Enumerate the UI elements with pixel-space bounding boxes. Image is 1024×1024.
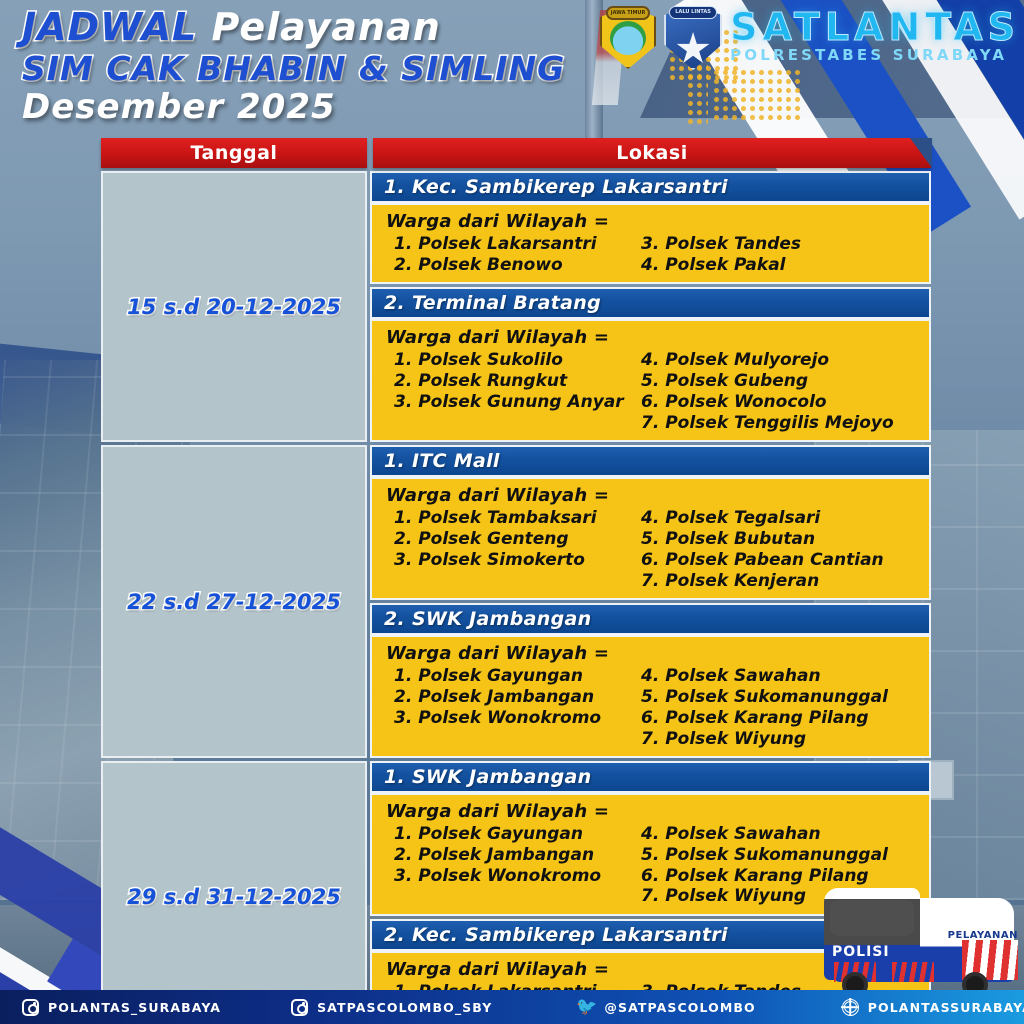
polsek-item: 2. Polsek Jambangan bbox=[394, 845, 641, 866]
polsek-item: 5. Polsek Sukomanunggal bbox=[641, 687, 915, 708]
location-block: 2. Terminal BratangWarga dari Wilayah =1… bbox=[370, 287, 931, 442]
location-title: 1. SWK Jambangan bbox=[370, 761, 931, 793]
warga-subtitle: Warga dari Wilayah = bbox=[386, 643, 915, 664]
polsek-item: 1. Polsek Sukolilo bbox=[394, 350, 641, 371]
polda-jatim-logo-icon: JAWA TIMUR bbox=[600, 7, 656, 69]
polsek-item: 4. Polsek Sawahan bbox=[641, 824, 915, 845]
title-line-1: JADWAL Pelayanan bbox=[22, 8, 662, 48]
van-windshield bbox=[830, 900, 914, 936]
van-polisi-label: POLISI bbox=[832, 944, 890, 960]
warga-subtitle: Warga dari Wilayah = bbox=[386, 801, 915, 822]
location-block: 2. SWK JambanganWarga dari Wilayah =1. P… bbox=[370, 603, 931, 758]
polsek-item: 6. Polsek Karang Pilang bbox=[641, 708, 915, 729]
date-cell: 22 s.d 27-12-2025 bbox=[101, 445, 367, 758]
footer-label: POLANTASSURABAYA.ID bbox=[868, 1000, 1024, 1015]
polsek-item: 6. Polsek Pabean Cantian bbox=[641, 550, 915, 571]
title-jadwal: JADWAL bbox=[22, 5, 197, 49]
title-line-2: SIM CAK BHABIN & SIMLING bbox=[22, 52, 662, 86]
lantas-logo-banner: LALU LINTAS bbox=[669, 6, 717, 19]
polsek-item: 2. Polsek Benowo bbox=[394, 255, 641, 276]
polda-logo-banner: JAWA TIMUR bbox=[606, 6, 650, 20]
polsek-item: 3. Polsek Wonokromo bbox=[394, 708, 641, 729]
polsek-item: 4. Polsek Pakal bbox=[641, 255, 915, 276]
polsek-item: 2. Polsek Genteng bbox=[394, 529, 641, 550]
column-header-tanggal: Tanggal bbox=[101, 138, 367, 168]
location-body: Warga dari Wilayah =1. Polsek Gayungan2.… bbox=[370, 635, 931, 758]
polsek-item: 3. Polsek Wonokromo bbox=[394, 866, 641, 887]
title-pelayanan: Pelayanan bbox=[212, 5, 441, 49]
polsek-item: 3. Polsek Gunung Anyar bbox=[394, 392, 641, 413]
social-footer-bar: POLANTAS_SURABAYASATPASCOLOMBO_SBY🐦@SATP… bbox=[0, 990, 1024, 1024]
table-row: 22 s.d 27-12-20251. ITC MallWarga dari W… bbox=[101, 445, 931, 758]
instagram-icon bbox=[22, 999, 39, 1016]
globe-icon bbox=[842, 999, 859, 1016]
schedule-table: Tanggal Lokasi 15 s.d 20-12-20251. Kec. … bbox=[101, 138, 931, 1024]
polsek-column: 4. Polsek Sawahan5. Polsek Sukomanunggal… bbox=[641, 666, 915, 749]
warga-subtitle: Warga dari Wilayah = bbox=[386, 211, 915, 232]
polsek-columns: 1. Polsek Lakarsantri2. Polsek Benowo3. … bbox=[386, 234, 915, 275]
location-title: 1. ITC Mall bbox=[370, 445, 931, 477]
polsek-column: 4. Polsek Tegalsari5. Polsek Bubutan6. P… bbox=[641, 508, 915, 591]
polsek-item: 7. Polsek Tenggilis Mejoyo bbox=[641, 413, 915, 434]
table-row: 29 s.d 31-12-20251. SWK JambanganWarga d… bbox=[101, 761, 931, 1024]
polsek-item: 1. Polsek Gayungan bbox=[394, 666, 641, 687]
table-header-row: Tanggal Lokasi bbox=[101, 138, 931, 168]
polsek-item: 4. Polsek Tegalsari bbox=[641, 508, 915, 529]
date-text: 29 s.d 31-12-2025 bbox=[127, 885, 341, 909]
polsek-column: 1. Polsek Lakarsantri2. Polsek Benowo bbox=[386, 234, 641, 275]
date-text: 15 s.d 20-12-2025 bbox=[127, 295, 341, 319]
location-cell: 1. ITC MallWarga dari Wilayah =1. Polsek… bbox=[370, 445, 931, 758]
footer-item[interactable]: POLANTASSURABAYA.ID bbox=[842, 999, 1024, 1016]
polsek-item: 2. Polsek Rungkut bbox=[394, 371, 641, 392]
location-body: Warga dari Wilayah =1. Polsek Sukolilo2.… bbox=[370, 319, 931, 442]
location-body: Warga dari Wilayah =1. Polsek Tambaksari… bbox=[370, 477, 931, 600]
location-body: Warga dari Wilayah =1. Polsek Lakarsantr… bbox=[370, 203, 931, 284]
warga-subtitle: Warga dari Wilayah = bbox=[386, 327, 915, 348]
polsek-column: 1. Polsek Gayungan2. Polsek Jambangan3. … bbox=[386, 824, 641, 907]
page-title: JADWAL Pelayanan SIM CAK BHABIN & SIMLIN… bbox=[22, 8, 662, 125]
police-van-graphic: PELAYANAN POLISI bbox=[824, 880, 1024, 1000]
polsek-item: 1. Polsek Lakarsantri bbox=[394, 234, 641, 255]
location-cell: 1. Kec. Sambikerep LakarsantriWarga dari… bbox=[370, 171, 931, 442]
polsek-item: 5. Polsek Sukomanunggal bbox=[641, 845, 915, 866]
polsek-item: 5. Polsek Bubutan bbox=[641, 529, 915, 550]
polsek-item: 7. Polsek Wiyung bbox=[641, 729, 915, 750]
polsek-column: 3. Polsek Tandes4. Polsek Pakal bbox=[641, 234, 915, 275]
polsek-item: 3. Polsek Simokerto bbox=[394, 550, 641, 571]
polsek-column: 1. Polsek Sukolilo2. Polsek Rungkut3. Po… bbox=[386, 350, 641, 433]
lalu-lintas-logo-icon: LALU LINTAS bbox=[664, 6, 722, 70]
polsek-column: 1. Polsek Gayungan2. Polsek Jambangan3. … bbox=[386, 666, 641, 749]
title-line-3: Desember 2025 bbox=[22, 90, 662, 125]
table-body: 15 s.d 20-12-20251. Kec. Sambikerep Laka… bbox=[101, 171, 931, 1024]
polsek-columns: 1. Polsek Gayungan2. Polsek Jambangan3. … bbox=[386, 666, 915, 749]
table-row: 15 s.d 20-12-20251. Kec. Sambikerep Laka… bbox=[101, 171, 931, 442]
polsek-item: 7. Polsek Kenjeran bbox=[641, 571, 915, 592]
polsek-item: 4. Polsek Sawahan bbox=[641, 666, 915, 687]
footer-label: @SATPASCOLOMBO bbox=[604, 1000, 755, 1015]
location-title: 2. SWK Jambangan bbox=[370, 603, 931, 635]
polsek-item: 5. Polsek Gubeng bbox=[641, 371, 915, 392]
polsek-column: 1. Polsek Tambaksari2. Polsek Genteng3. … bbox=[386, 508, 641, 591]
instagram-icon bbox=[291, 999, 308, 1016]
date-cell: 29 s.d 31-12-2025 bbox=[101, 761, 367, 1024]
warga-subtitle: Warga dari Wilayah = bbox=[386, 485, 915, 506]
date-text: 22 s.d 27-12-2025 bbox=[127, 590, 341, 614]
polsek-item: 4. Polsek Mulyorejo bbox=[641, 350, 915, 371]
polsek-item: 1. Polsek Gayungan bbox=[394, 824, 641, 845]
footer-item[interactable]: SATPASCOLOMBO_SBY bbox=[291, 999, 492, 1016]
date-cell: 15 s.d 20-12-2025 bbox=[101, 171, 367, 442]
location-title: 2. Terminal Bratang bbox=[370, 287, 931, 319]
polsek-columns: 1. Polsek Sukolilo2. Polsek Rungkut3. Po… bbox=[386, 350, 915, 433]
location-block: 1. Kec. Sambikerep LakarsantriWarga dari… bbox=[370, 171, 931, 284]
polsek-item: 3. Polsek Tandes bbox=[641, 234, 915, 255]
brand-text: SATLANTAS POLRESTABES SURABAYA bbox=[730, 8, 1020, 69]
footer-item[interactable]: 🐦@SATPASCOLOMBO bbox=[576, 999, 755, 1015]
footer-label: POLANTAS_SURABAYA bbox=[48, 1000, 221, 1015]
polsek-item: 2. Polsek Jambangan bbox=[394, 687, 641, 708]
dot-pattern-3 bbox=[712, 68, 802, 124]
van-service-label: PELAYANAN bbox=[948, 930, 1018, 941]
polsek-item: 6. Polsek Wonocolo bbox=[641, 392, 915, 413]
polsek-columns: 1. Polsek Tambaksari2. Polsek Genteng3. … bbox=[386, 508, 915, 591]
location-title: 1. Kec. Sambikerep Lakarsantri bbox=[370, 171, 931, 203]
brand-name: SATLANTAS bbox=[730, 8, 1020, 46]
brand-subtitle: POLRESTABES SURABAYA bbox=[730, 48, 1020, 63]
location-block: 1. ITC MallWarga dari Wilayah =1. Polsek… bbox=[370, 445, 931, 600]
twitter-icon: 🐦 bbox=[576, 999, 595, 1015]
footer-item[interactable]: POLANTAS_SURABAYA bbox=[22, 999, 221, 1016]
footer-label: SATPASCOLOMBO_SBY bbox=[317, 1000, 492, 1015]
polsek-item: 1. Polsek Tambaksari bbox=[394, 508, 641, 529]
column-header-lokasi: Lokasi bbox=[373, 138, 931, 168]
brand-lockup: JAWA TIMUR LALU LINTAS SATLANTAS POLREST… bbox=[600, 6, 1020, 70]
polsek-column: 4. Polsek Mulyorejo5. Polsek Gubeng6. Po… bbox=[641, 350, 915, 433]
